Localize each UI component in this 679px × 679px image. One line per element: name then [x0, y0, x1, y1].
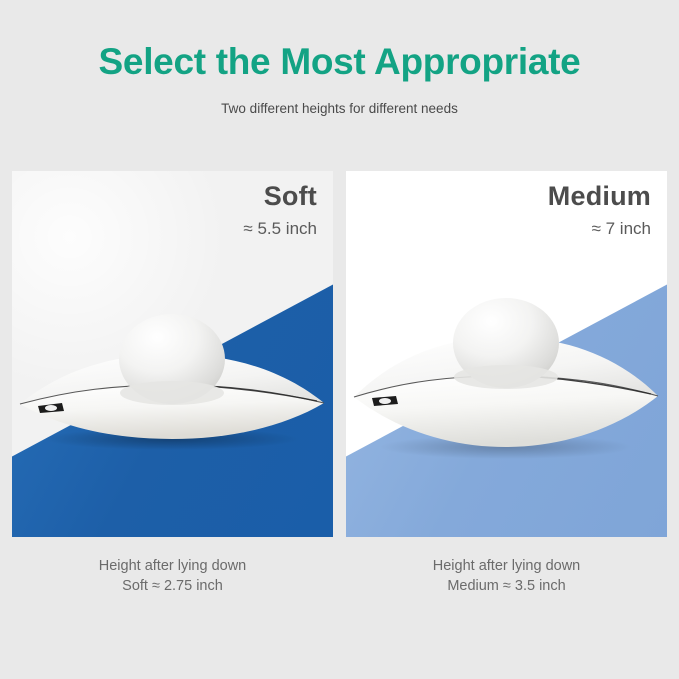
panel-soft-labels: Soft ≈ 5.5 inch	[243, 179, 317, 241]
caption-soft-line-2: Soft ≈ 2.75 inch	[12, 576, 333, 596]
panel-medium-labels: Medium ≈ 7 inch	[548, 179, 651, 241]
page-subtitle: Two different heights for different need…	[0, 100, 679, 118]
panel-medium[interactable]: Medium ≈ 7 inch	[346, 171, 667, 537]
pillow-illustration-medium	[346, 297, 667, 479]
caption-soft: Height after lying down Soft ≈ 2.75 inch	[12, 556, 333, 596]
pillow-illustration-soft	[12, 311, 333, 471]
caption-soft-line-1: Height after lying down	[12, 556, 333, 576]
panel-soft[interactable]: Soft ≈ 5.5 inch	[12, 171, 333, 537]
panel-soft-firmness-label: Soft	[243, 179, 317, 213]
comparison-panels: Soft ≈ 5.5 inch	[12, 171, 667, 537]
panel-medium-firmness-label: Medium	[548, 179, 651, 213]
page-title: Select the Most Appropriate	[0, 40, 679, 84]
caption-medium-line-1: Height after lying down	[346, 556, 667, 576]
page-header: Select the Most Appropriate Two differen…	[0, 0, 679, 118]
panel-soft-height-label: ≈ 5.5 inch	[243, 217, 317, 241]
panel-captions: Height after lying down Soft ≈ 2.75 inch…	[12, 556, 667, 596]
caption-medium-line-2: Medium ≈ 3.5 inch	[346, 576, 667, 596]
panel-medium-height-label: ≈ 7 inch	[548, 217, 651, 241]
caption-medium: Height after lying down Medium ≈ 3.5 inc…	[346, 556, 667, 596]
